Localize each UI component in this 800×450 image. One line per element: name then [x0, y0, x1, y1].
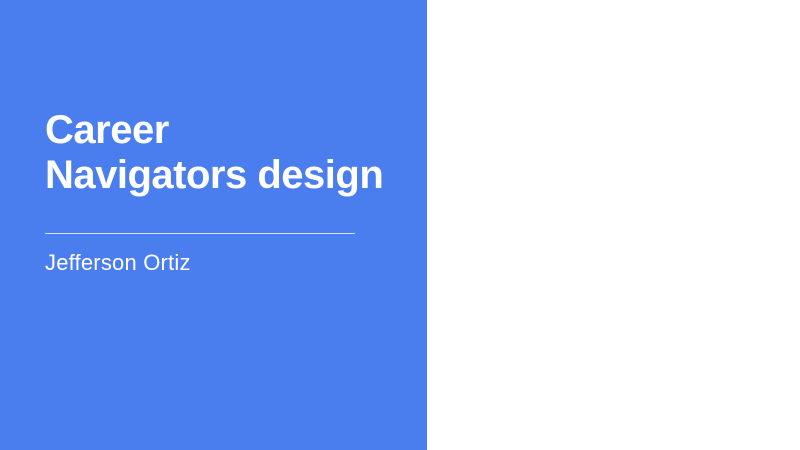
device-showcase-panel: careernavigators.io CareerNavigators [427, 0, 800, 450]
page-title: Career Navigators design [45, 108, 405, 198]
presentation-slide: Career Navigators design Jefferson Ortiz [0, 0, 800, 450]
title-block: Career Navigators design [45, 108, 405, 198]
title-divider [45, 233, 355, 234]
title-panel: Career Navigators design Jefferson Ortiz [0, 0, 427, 450]
author-name: Jefferson Ortiz [45, 250, 191, 276]
